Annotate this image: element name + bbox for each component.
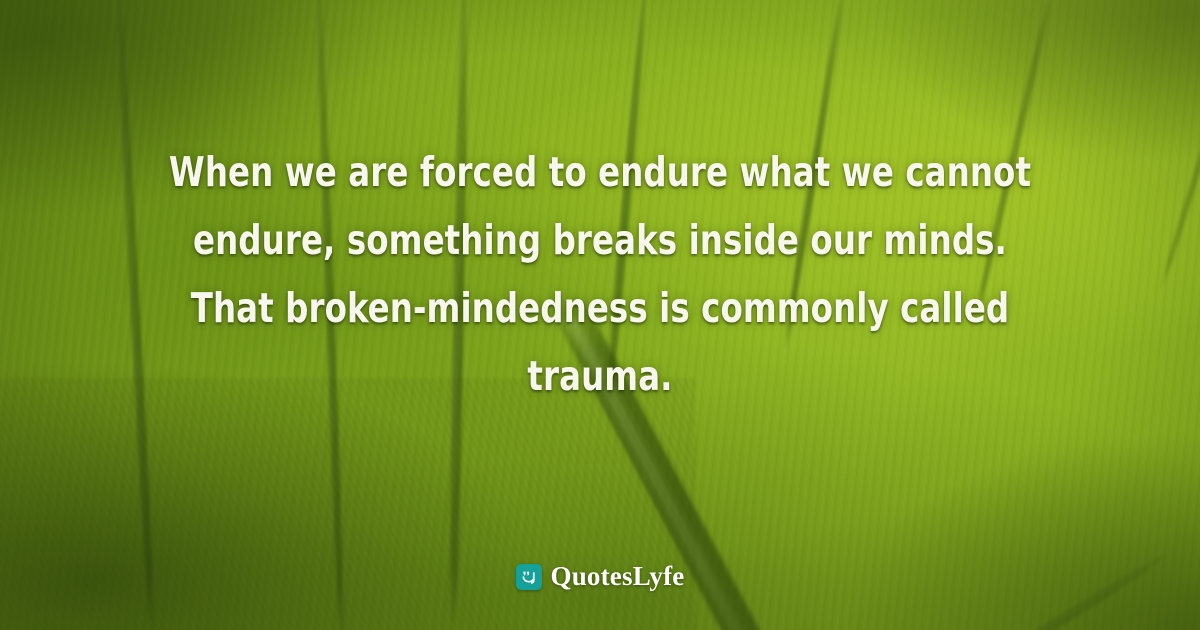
brand-name-label: QuotesLyfe [551, 563, 685, 590]
brand-logo[interactable]: QuotesLyfe [0, 563, 1200, 590]
quote-text-block: When we are forced to endure what we can… [0, 138, 1200, 410]
quote-line-1: When we are forced to endure what we can… [125, 138, 1075, 206]
quote-line-2: endure, something breaks inside our mind… [125, 206, 1075, 274]
quote-line-3: That broken-mindedness is commonly calle… [125, 274, 1075, 342]
quote-line-4: trauma. [125, 342, 1075, 410]
quote-smiley-icon [516, 564, 542, 590]
quote-card: When we are forced to endure what we can… [0, 0, 1200, 630]
